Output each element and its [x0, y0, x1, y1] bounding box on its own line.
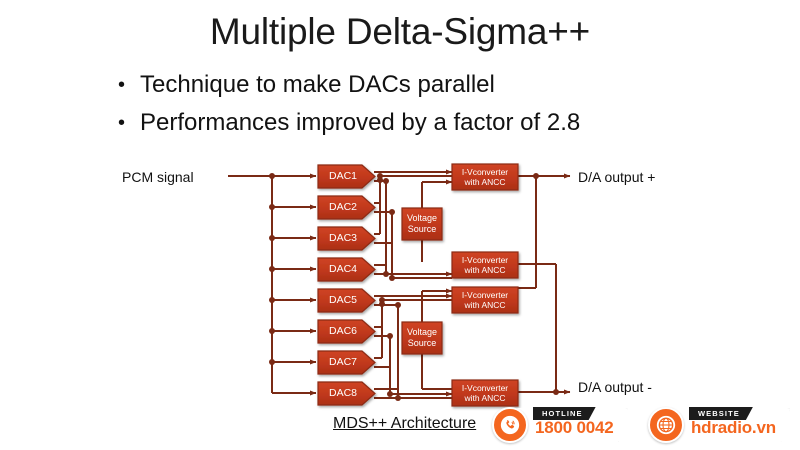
voltage-source-block[interactable]	[402, 322, 442, 354]
voltage-source-block[interactable]	[402, 208, 442, 240]
dac-block[interactable]	[318, 320, 375, 343]
mds-architecture-diagram: DAC1 DAC2 DAC3 DAC4 DAC5 DAC6 DAC7 DAC8 …	[0, 0, 800, 450]
dac-block[interactable]	[318, 258, 375, 281]
da-output-plus-label: D/A output +	[578, 169, 655, 185]
diagram-svg	[0, 0, 800, 450]
dac-block[interactable]	[318, 351, 375, 374]
converter-block[interactable]	[452, 252, 518, 278]
converter-block[interactable]	[452, 287, 518, 313]
dac-block[interactable]	[318, 382, 375, 405]
converter-block-group	[452, 164, 518, 406]
da-output-minus-label: D/A output -	[578, 379, 652, 395]
phone-icon	[492, 407, 528, 443]
dac-block[interactable]	[318, 289, 375, 312]
slide-canvas: Multiple Delta-Sigma++ • Technique to ma…	[0, 0, 800, 450]
hotline-tag: HOTLINE	[533, 407, 596, 420]
hotline-badge-body: HOTLINE 1800 0042	[515, 408, 628, 442]
website-url: hdradio.vn	[691, 417, 776, 442]
website-tag: WEBSITE	[689, 407, 753, 420]
hotline-number: 1800 0042	[535, 417, 614, 442]
dac-block-group	[318, 165, 375, 405]
wire-group	[228, 172, 570, 398]
pcm-signal-label: PCM signal	[122, 169, 194, 185]
converter-block[interactable]	[452, 164, 518, 190]
converter-block[interactable]	[452, 380, 518, 406]
globe-icon	[648, 407, 684, 443]
dac-block[interactable]	[318, 227, 375, 250]
website-badge[interactable]: WEBSITE hdradio.vn	[648, 407, 790, 443]
dac-block[interactable]	[318, 196, 375, 219]
hotline-badge[interactable]: HOTLINE 1800 0042	[492, 407, 628, 443]
voltage-source-group	[402, 208, 442, 354]
diagram-caption: MDS++ Architecture	[333, 415, 476, 433]
dac-block[interactable]	[318, 165, 375, 188]
website-badge-body: WEBSITE hdradio.vn	[671, 408, 790, 442]
